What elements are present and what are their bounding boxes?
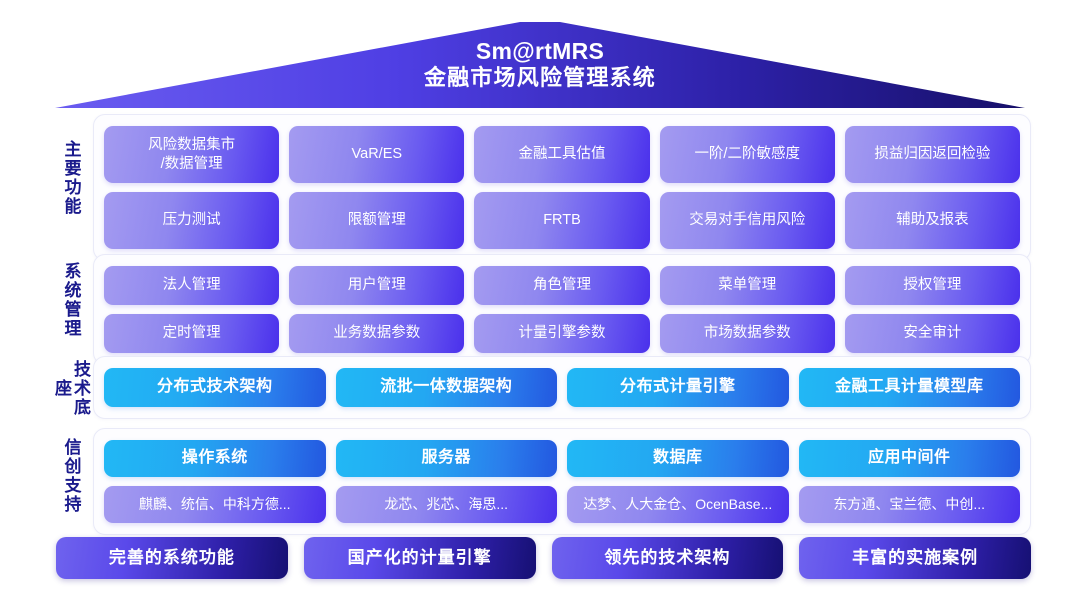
tile-database-vendors[interactable]: 达梦、人大金仓、OcenBase... (567, 486, 789, 523)
tile-auxiliary-reports[interactable]: 辅助及报表 (845, 192, 1020, 249)
architecture-diagram: Sm@rtMRS 金融市场风险管理系统 主要功能 风险数据集市 /数据管理 Va… (0, 0, 1080, 604)
tile-security-audit[interactable]: 安全审计 (845, 314, 1020, 353)
panel-xinchuang-support: 操作系统 服务器 数据库 应用中间件 麒麟、统信、中科方德... 龙芯、兆芯、海… (93, 428, 1031, 535)
tile-frtb[interactable]: FRTB (474, 192, 649, 249)
row-xc-1: 操作系统 服务器 数据库 应用中间件 (104, 440, 1020, 477)
tile-user-management[interactable]: 用户管理 (289, 266, 464, 305)
tile-server[interactable]: 服务器 (336, 440, 558, 477)
tile-var-es[interactable]: VaR/ES (289, 126, 464, 183)
tile-stress-test[interactable]: 压力测试 (104, 192, 279, 249)
footer-tile-complete-functions[interactable]: 完善的系统功能 (56, 537, 288, 579)
tile-middleware-vendors[interactable]: 东方通、宝兰德、中创... (799, 486, 1021, 523)
tile-operating-system[interactable]: 操作系统 (104, 440, 326, 477)
footer-highlights: 完善的系统功能 国产化的计量引擎 领先的技术架构 丰富的实施案例 (56, 537, 1031, 579)
section-label-technology-base: 技术底座 (56, 356, 86, 420)
footer-tile-domestic-calc-engine[interactable]: 国产化的计量引擎 (304, 537, 536, 579)
tile-stream-batch-data-architecture[interactable]: 流批一体数据架构 (336, 368, 558, 407)
tile-business-data-params[interactable]: 业务数据参数 (289, 314, 464, 353)
panel-system-management: 法人管理 用户管理 角色管理 菜单管理 授权管理 定时管理 业务数据参数 计量引… (93, 254, 1031, 365)
tile-os-vendors[interactable]: 麒麟、统信、中科方德... (104, 486, 326, 523)
roof-banner: Sm@rtMRS 金融市场风险管理系统 (0, 0, 1080, 112)
tile-counterparty-credit-risk[interactable]: 交易对手信用风险 (660, 192, 835, 249)
row-sys-1: 法人管理 用户管理 角色管理 菜单管理 授权管理 (104, 266, 1020, 305)
tile-server-vendors[interactable]: 龙芯、兆芯、海思... (336, 486, 558, 523)
tile-market-data-params[interactable]: 市场数据参数 (660, 314, 835, 353)
tile-sensitivities[interactable]: 一阶/二阶敏感度 (660, 126, 835, 183)
tile-instrument-model-library[interactable]: 金融工具计量模型库 (799, 368, 1021, 407)
tile-authorization-management[interactable]: 授权管理 (845, 266, 1020, 305)
footer-tile-leading-architecture[interactable]: 领先的技术架构 (552, 537, 784, 579)
tile-menu-management[interactable]: 菜单管理 (660, 266, 835, 305)
tile-distributed-calc-engine[interactable]: 分布式计量引擎 (567, 368, 789, 407)
footer-tile-rich-cases[interactable]: 丰富的实施案例 (799, 537, 1031, 579)
tile-distributed-architecture[interactable]: 分布式技术架构 (104, 368, 326, 407)
roof-shape (0, 0, 1080, 112)
row-xc-2: 麒麟、统信、中科方德... 龙芯、兆芯、海思... 达梦、人大金仓、OcenBa… (104, 486, 1020, 523)
section-label-system-management: 系统管理 (56, 254, 86, 346)
tile-pnl-attribution-backtest[interactable]: 损益归因返回检验 (845, 126, 1020, 183)
panel-main-functions: 风险数据集市 /数据管理 VaR/ES 金融工具估值 一阶/二阶敏感度 损益归因… (93, 114, 1031, 261)
tile-limit-management[interactable]: 限额管理 (289, 192, 464, 249)
row-main-2: 压力测试 限额管理 FRTB 交易对手信用风险 辅助及报表 (104, 192, 1020, 249)
row-main-1: 风险数据集市 /数据管理 VaR/ES 金融工具估值 一阶/二阶敏感度 损益归因… (104, 126, 1020, 183)
row-sys-2: 定时管理 业务数据参数 计量引擎参数 市场数据参数 安全审计 (104, 314, 1020, 353)
section-label-main-functions: 主要功能 (56, 114, 86, 242)
panel-technology-base: 分布式技术架构 流批一体数据架构 分布式计量引擎 金融工具计量模型库 (93, 356, 1031, 419)
tile-instrument-valuation[interactable]: 金融工具估值 (474, 126, 649, 183)
tile-role-management[interactable]: 角色管理 (474, 266, 649, 305)
tile-risk-data-mart[interactable]: 风险数据集市 /数据管理 (104, 126, 279, 183)
tile-database[interactable]: 数据库 (567, 440, 789, 477)
tile-middleware[interactable]: 应用中间件 (799, 440, 1021, 477)
tile-calc-engine-params[interactable]: 计量引擎参数 (474, 314, 649, 353)
tile-legal-entity-management[interactable]: 法人管理 (104, 266, 279, 305)
tile-schedule-management[interactable]: 定时管理 (104, 314, 279, 353)
section-label-xinchuang-support: 信创支持 (56, 428, 86, 524)
row-tech-1: 分布式技术架构 流批一体数据架构 分布式计量引擎 金融工具计量模型库 (104, 368, 1020, 407)
